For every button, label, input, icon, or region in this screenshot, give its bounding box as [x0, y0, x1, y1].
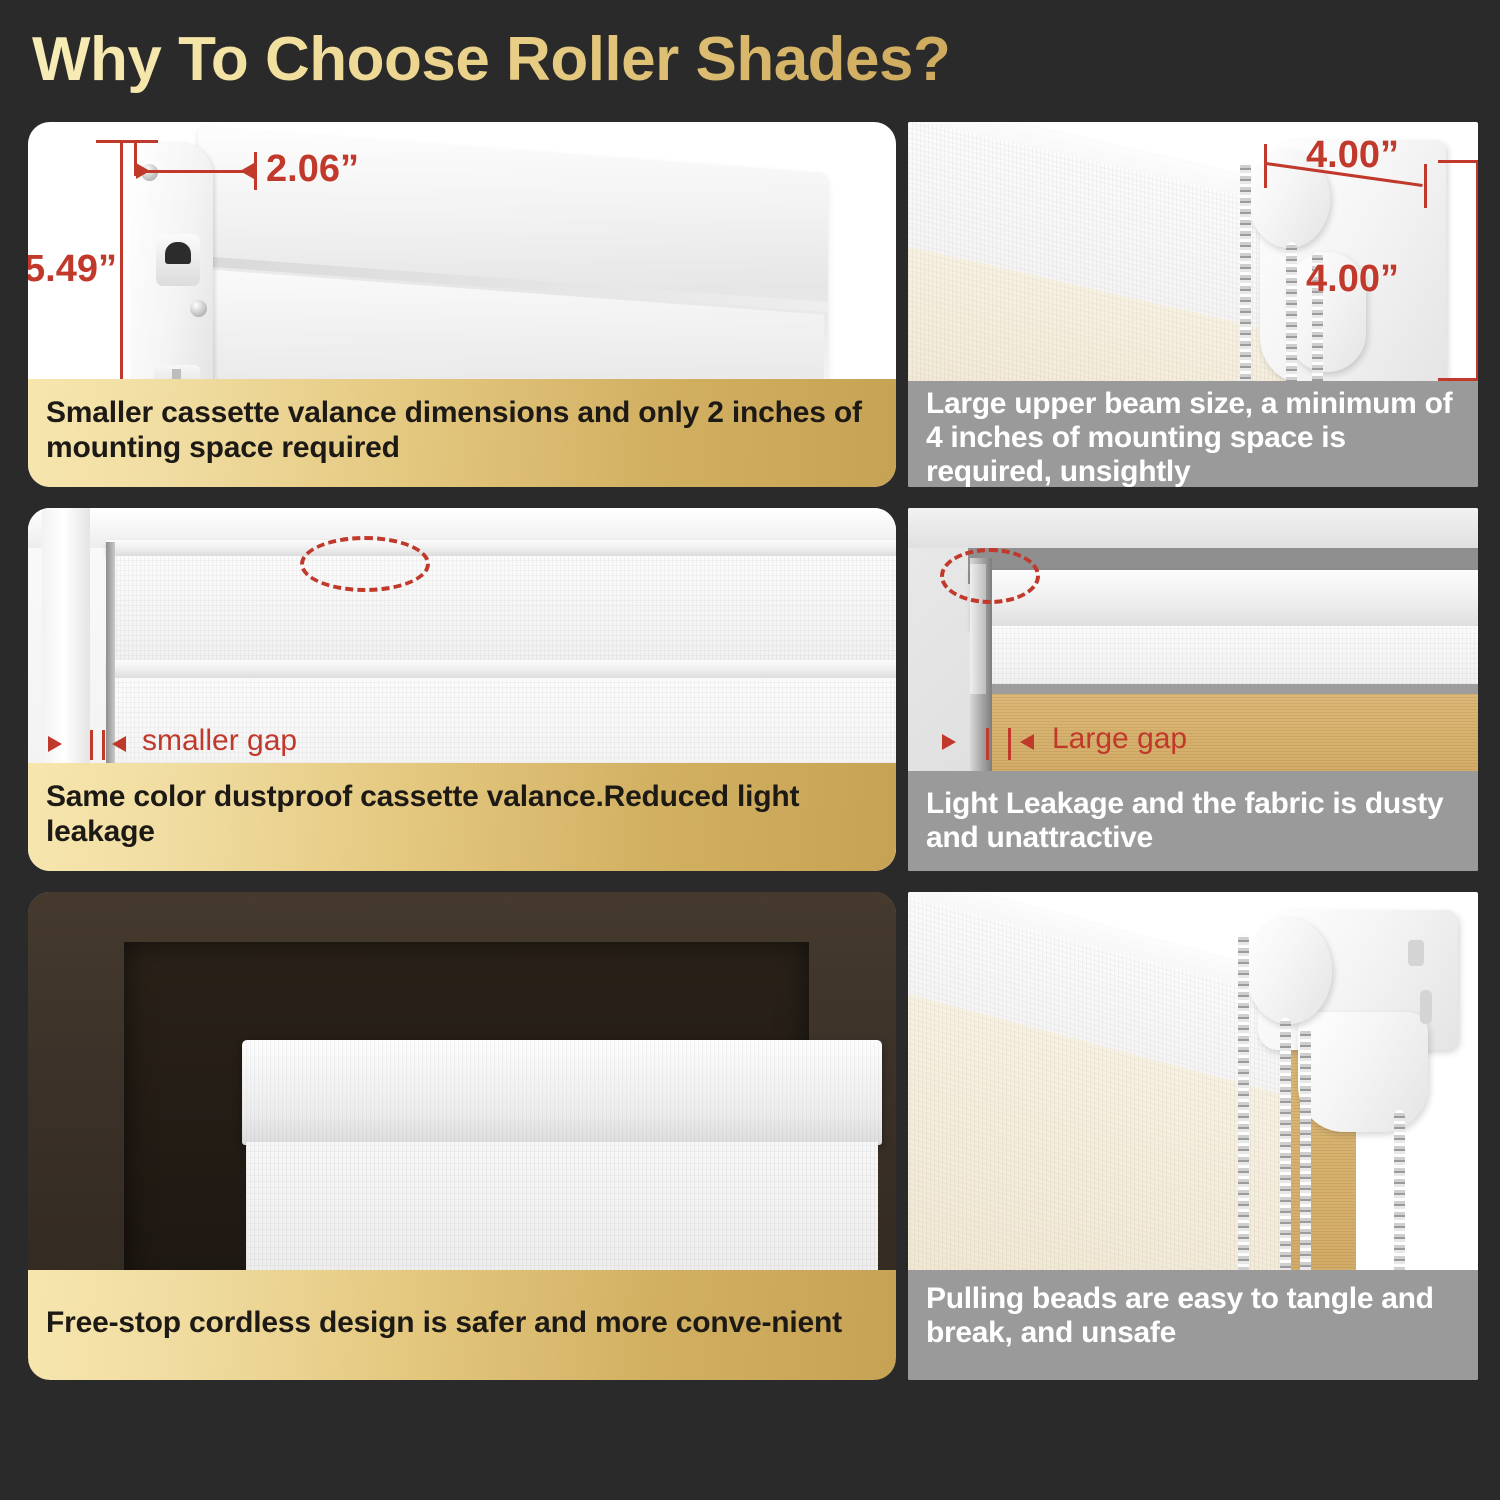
dim-tick-top	[1438, 160, 1478, 163]
gap-arrow-left-icon	[1020, 734, 1034, 750]
caption-text: Free-stop cordless design is safer and m…	[46, 1306, 842, 1341]
valance-screw-mid-icon	[190, 300, 207, 317]
detail-highlight-ellipse	[300, 536, 430, 592]
dim-tick-right	[254, 152, 257, 190]
detail-highlight-ellipse	[940, 548, 1040, 604]
width-dimension-annotation: 2.06”	[126, 142, 456, 202]
smaller-gap-label: smaller gap	[142, 724, 297, 758]
beads-bracket-wheel	[1246, 918, 1332, 1024]
gap-tick-left	[90, 730, 93, 760]
height-dimension-label: 5.49”	[28, 248, 117, 291]
panel-dustproof-valance: smaller gap Same color dustproof cassett…	[28, 508, 896, 871]
gap-tick-left	[986, 728, 989, 760]
panel-light-leakage: Large gap Light Leakage and the fabric i…	[908, 508, 1478, 871]
caption-text: Same color dustproof cassette valance.Re…	[46, 780, 878, 850]
valance-mid-rail	[108, 660, 896, 678]
valance-fabric-upper	[108, 556, 896, 661]
caption-dustproof-valance: Same color dustproof cassette valance.Re…	[28, 763, 896, 871]
page-title: Why To Choose Roller Shades?	[32, 14, 1032, 106]
caption-cassette-valance: Smaller cassette valance dimensions and …	[28, 379, 896, 487]
dim-arrow-left-icon	[240, 163, 254, 179]
gap-arrow-right-icon	[48, 736, 62, 752]
beam-height-dimension-label: 4.00”	[1306, 258, 1399, 301]
valance-clutch-knob	[156, 234, 200, 286]
dim-tick-top	[96, 140, 158, 143]
leakage-fabric-white	[974, 626, 1478, 684]
smaller-gap-annotation: smaller gap	[42, 724, 402, 768]
beam-width-dimension-label: 4.00”	[1306, 134, 1399, 177]
caption-large-upper-beam: Large upper beam size, a minimum of 4 in…	[908, 381, 1478, 487]
caption-pulling-beads: Pulling beads are easy to tangle and bre…	[908, 1270, 1478, 1380]
dim-tick-right	[1424, 164, 1427, 208]
beam-bead-chain-1	[1240, 162, 1251, 392]
caption-text: Large upper beam size, a minimum of 4 in…	[926, 387, 1460, 487]
gap-tick-right	[1008, 728, 1011, 760]
caption-text: Pulling beads are easy to tangle and bre…	[926, 1282, 1460, 1350]
leakage-head-rail	[970, 570, 1478, 630]
panel-cordless-design: Free-stop cordless design is safer and m…	[28, 892, 896, 1380]
valance-head-rail	[106, 540, 896, 556]
beads-bracket-body	[1298, 1012, 1428, 1132]
gap-arrow-left-icon	[112, 736, 126, 752]
caption-text: Light Leakage and the fabric is dusty an…	[926, 787, 1460, 855]
large-gap-label: Large gap	[1052, 722, 1187, 756]
dim-line-height	[1476, 162, 1478, 380]
ceiling-band	[908, 508, 1478, 548]
shade-valance	[242, 1040, 882, 1145]
large-gap-annotation: Large gap	[936, 722, 1276, 766]
caption-text: Smaller cassette valance dimensions and …	[46, 396, 878, 466]
gap-tick-right	[102, 730, 105, 760]
leakage-gap-shadow	[974, 684, 1478, 694]
caption-light-leakage: Light Leakage and the fabric is dusty an…	[908, 771, 1478, 871]
panel-large-upper-beam: 4.00” 4.00” Large upper beam size, a min…	[908, 122, 1478, 487]
gap-arrow-right-icon	[942, 734, 956, 750]
panel-cassette-valance: 2.06” 5.49” Smaller cassette valance dim…	[28, 122, 896, 487]
beam-bead-chain-2	[1286, 242, 1297, 392]
page-title-text: Why To Choose Roller Shades?	[32, 14, 1032, 106]
bracket-slot-2	[1420, 990, 1432, 1024]
beam-height-dimension-annotation: 4.00”	[1438, 150, 1478, 390]
dim-tick-left	[1264, 144, 1267, 188]
width-dimension-label: 2.06”	[266, 148, 359, 191]
caption-cordless-design: Free-stop cordless design is safer and m…	[28, 1270, 896, 1380]
panel-pulling-beads: Pulling beads are easy to tangle and bre…	[908, 892, 1478, 1380]
bracket-slot-1	[1408, 940, 1424, 966]
